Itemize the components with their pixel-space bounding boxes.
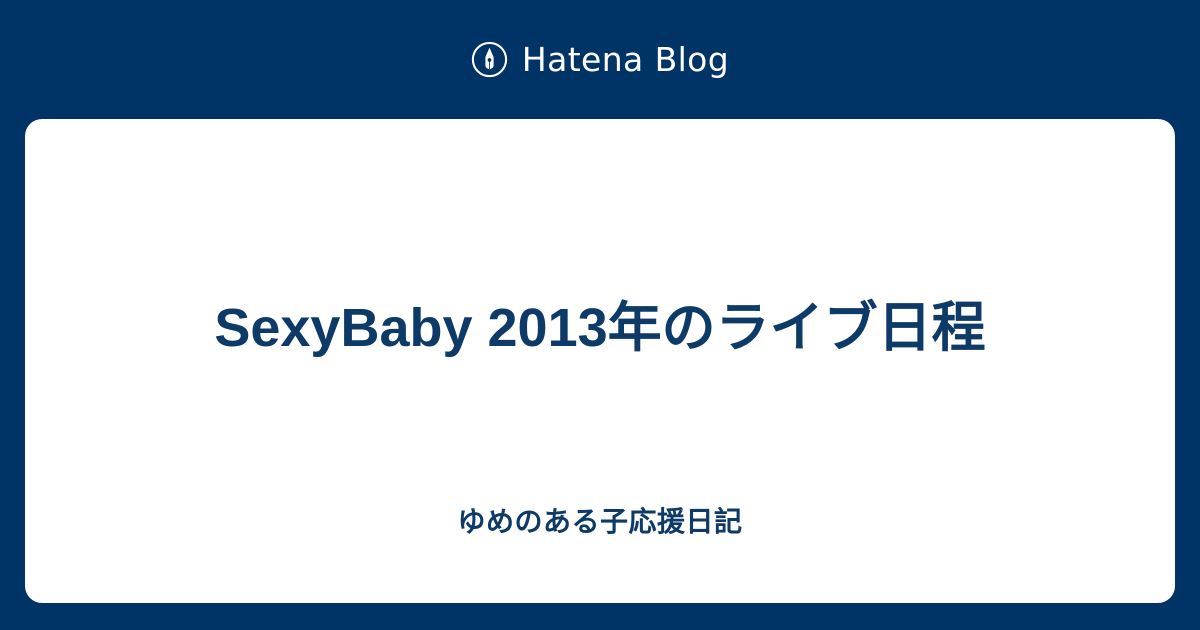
blog-name: ゆめのある子応援日記 bbox=[85, 504, 1115, 540]
blog-name-container: ゆめのある子応援日記 bbox=[25, 504, 1175, 540]
entry-title-container: SexyBaby 2013年のライブ日程 bbox=[25, 297, 1175, 361]
entry-title: SexyBaby 2013年のライブ日程 bbox=[85, 297, 1115, 361]
fountain-pen-nib-circle-icon bbox=[471, 41, 508, 78]
brand-name-label: Hatena Blog bbox=[522, 43, 729, 76]
og-image-root: Hatena Blog SexyBaby 2013年のライブ日程 ゆめのある子応… bbox=[0, 0, 1200, 630]
brand-header: Hatena Blog bbox=[0, 0, 1200, 119]
entry-card: SexyBaby 2013年のライブ日程 ゆめのある子応援日記 bbox=[25, 119, 1175, 603]
